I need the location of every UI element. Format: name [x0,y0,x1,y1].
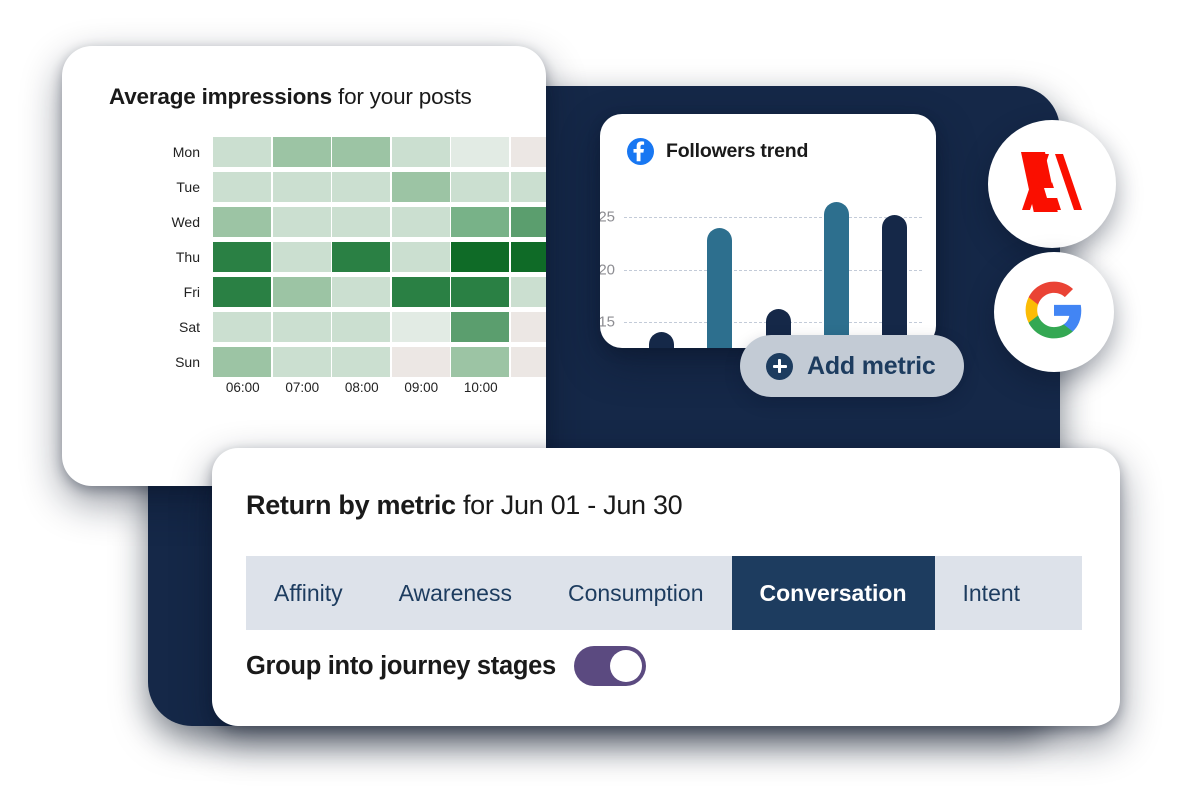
heatmap-cell[interactable] [332,207,390,237]
return-by-metric-title-rest: for Jun 01 - Jun 30 [456,490,683,520]
heatmap-cell[interactable] [451,312,509,342]
heatmap-cell[interactable] [392,312,450,342]
group-journey-stages-label: Group into journey stages [246,652,556,681]
heatmap-cell[interactable] [392,207,450,237]
heatmap-cell[interactable] [213,347,271,377]
screenshot-stage: Average impressions for your posts MonTu… [0,0,1200,800]
metric-tab-bar: AffinityAwarenessConsumptionConversation… [246,556,1082,630]
heatmap-cell[interactable] [273,277,331,307]
heatmap-cell[interactable] [392,277,450,307]
heatmap-cell[interactable] [392,137,450,167]
add-metric-button[interactable]: Add metric [740,335,964,397]
heatmap-cell[interactable] [273,207,331,237]
heatmap-cell[interactable] [273,347,331,377]
heatmap-cell[interactable] [213,277,271,307]
heatmap-cell[interactable] [213,137,271,167]
heatmap-day-label: Mon [161,144,213,160]
heatmap-cell[interactable] [511,172,547,202]
heatmap-cell[interactable] [332,137,390,167]
heatmap-cell[interactable] [273,137,331,167]
chart-bar[interactable] [707,228,732,348]
heatmap-cell[interactable] [511,137,547,167]
heatmap-x-tick: 06:00 [213,380,273,395]
add-metric-label: Add metric [807,352,936,381]
heatmap-x-tick: 08:00 [332,380,392,395]
tab-conversation[interactable]: Conversation [732,556,935,630]
heatmap-title: Average impressions for your posts [109,84,472,110]
heatmap-cell[interactable] [511,312,547,342]
heatmap-x-axis: 06:0007:0008:0009:0010:00 [213,380,511,395]
heatmap-day-label: Tue [161,179,213,195]
heatmap-cell[interactable] [332,347,390,377]
heatmap-cell[interactable] [392,347,450,377]
heatmap-cell[interactable] [451,277,509,307]
facebook-icon [627,138,654,165]
adobe-logo-icon [1019,152,1085,217]
heatmap-row: Tue [161,169,546,204]
adobe-logo-badge[interactable] [988,120,1116,248]
chart-gridline [624,217,922,218]
heatmap-day-label: Sat [161,319,213,335]
heatmap-x-tick: 09:00 [392,380,452,395]
heatmap-row: Mon [161,134,546,169]
heatmap-title-bold: Average impressions [109,84,332,109]
heatmap-row: Thu [161,239,546,274]
heatmap-row: Sun [161,344,546,379]
heatmap-cell[interactable] [451,207,509,237]
heatmap-cell[interactable] [451,347,509,377]
heatmap-cell[interactable] [273,242,331,272]
heatmap-cell[interactable] [511,242,547,272]
chart-bar[interactable] [882,215,907,348]
heatmap-cell[interactable] [213,172,271,202]
heatmap-row: Sat [161,309,546,344]
heatmap-cell[interactable] [332,172,390,202]
tab-affinity[interactable]: Affinity [246,556,371,630]
heatmap-cell[interactable] [213,312,271,342]
plus-circle-icon [766,353,793,380]
heatmap-x-tick: 10:00 [451,380,511,395]
google-logo-badge[interactable] [994,252,1114,372]
heatmap-cell[interactable] [451,172,509,202]
heatmap-day-label: Thu [161,249,213,265]
heatmap-cell[interactable] [273,312,331,342]
heatmap-cell-group [213,277,546,307]
impressions-heatmap[interactable]: MonTueWedThuFriSatSun [161,134,546,379]
google-logo-icon [1023,279,1085,346]
group-journey-stages-row: Group into journey stages [246,646,646,686]
heatmap-cell[interactable] [332,242,390,272]
chart-bar[interactable] [649,332,674,348]
return-by-metric-title-bold: Return by metric [246,490,456,520]
heatmap-title-rest: for your posts [332,84,472,109]
heatmap-cell-group [213,172,546,202]
followers-trend-card: Followers trend 152025 [600,114,936,348]
heatmap-day-label: Sun [161,354,213,370]
heatmap-cell[interactable] [213,207,271,237]
heatmap-cell-group [213,137,546,167]
heatmap-cell[interactable] [273,172,331,202]
heatmap-cell-group [213,242,546,272]
heatmap-cell[interactable] [332,277,390,307]
return-by-metric-title: Return by metric for Jun 01 - Jun 30 [246,490,682,521]
heatmap-cell[interactable] [511,347,547,377]
heatmap-day-label: Fri [161,284,213,300]
chart-gridline [624,270,922,271]
chart-y-tick-label: 15 [600,313,624,330]
chart-y-tick-label: 20 [600,261,624,278]
heatmap-cell[interactable] [451,137,509,167]
heatmap-cell[interactable] [332,312,390,342]
chart-y-tick-label: 25 [600,209,624,226]
heatmap-row: Wed [161,204,546,239]
followers-trend-title: Followers trend [666,138,808,165]
heatmap-cell[interactable] [392,242,450,272]
heatmap-cell[interactable] [213,242,271,272]
toggle-knob [610,650,642,682]
heatmap-cell-group [213,207,546,237]
average-impressions-card: Average impressions for your posts MonTu… [62,46,546,486]
heatmap-x-tick: 07:00 [273,380,333,395]
heatmap-row: Fri [161,274,546,309]
tab-awareness[interactable]: Awareness [371,556,540,630]
heatmap-cell[interactable] [511,277,547,307]
heatmap-cell-group [213,312,546,342]
return-by-metric-card: Return by metric for Jun 01 - Jun 30 Aff… [212,448,1120,726]
tab-consumption[interactable]: Consumption [540,556,732,630]
heatmap-cell[interactable] [451,242,509,272]
heatmap-cell[interactable] [392,172,450,202]
followers-trend-chart[interactable]: 152025 [624,186,916,348]
heatmap-cell[interactable] [511,207,547,237]
heatmap-day-label: Wed [161,214,213,230]
group-journey-stages-toggle[interactable] [574,646,646,686]
heatmap-cell-group [213,347,546,377]
tab-intent[interactable]: Intent [935,556,1049,630]
chart-bar[interactable] [824,202,849,348]
